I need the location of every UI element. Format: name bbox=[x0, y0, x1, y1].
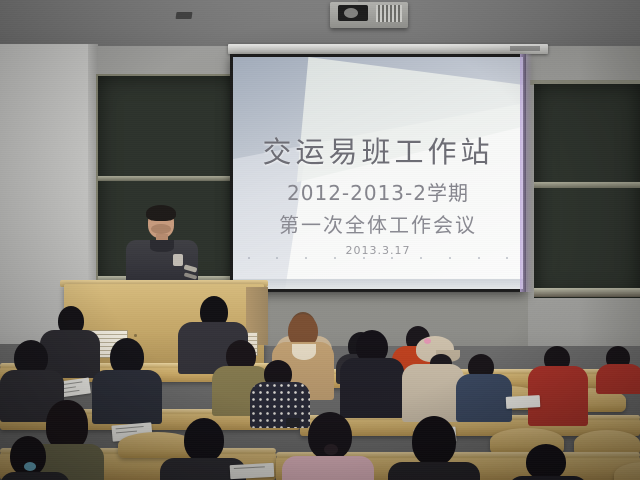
attendee-head bbox=[184, 418, 224, 462]
projection-screen-housing bbox=[228, 44, 548, 54]
attendee-hood bbox=[292, 344, 316, 360]
hair-bun bbox=[324, 444, 338, 455]
attendee-front-pink-coat bbox=[282, 412, 374, 480]
blackboard-right-tray bbox=[534, 288, 640, 297]
attendee-mid-right-red bbox=[528, 346, 588, 424]
attendee-front-dark-center bbox=[388, 416, 480, 480]
handout-paper bbox=[506, 395, 541, 409]
blackboard-right-rail bbox=[534, 182, 640, 188]
attendee-body bbox=[456, 374, 512, 422]
attendee-body bbox=[340, 358, 404, 418]
projector-lens-icon bbox=[338, 5, 368, 21]
attendee-body bbox=[596, 364, 640, 394]
attendee-body bbox=[0, 472, 70, 480]
attendee-body bbox=[282, 456, 374, 480]
attendee-back-far-edge-red bbox=[596, 346, 640, 390]
slide-subtitle-term: 2012-2013-2学期 bbox=[287, 177, 469, 206]
presentation-slide: 交运易班工作站 2012-2013-2学期 第一次全体工作会议 2013.3.1… bbox=[233, 57, 523, 289]
attendee-body bbox=[402, 364, 464, 422]
blackboard-right bbox=[534, 84, 640, 298]
ceiling-projector-icon bbox=[330, 2, 408, 28]
slide-date: 2013.3.17 bbox=[346, 244, 411, 257]
lecture-hall-photo: 交运易班工作站 2012-2013-2学期 第一次全体工作会议 2013.3.1… bbox=[0, 0, 640, 480]
projector-grille bbox=[376, 5, 402, 22]
slide-subtitle-meeting: 第一次全体工作会议 bbox=[279, 209, 477, 238]
slide-dot-row bbox=[248, 257, 509, 259]
ceiling-vent-icon bbox=[176, 12, 193, 19]
blackboard-left-rail bbox=[98, 176, 240, 181]
presenter-face-shadow bbox=[151, 224, 171, 234]
cap-decoration bbox=[424, 338, 431, 344]
attendee-mid-cap-beige bbox=[402, 336, 464, 420]
slide-footer-bar bbox=[233, 279, 523, 289]
attendee-front-far-left bbox=[0, 436, 70, 480]
presenter-jacket-badge bbox=[173, 254, 183, 266]
attendee-mid-dark-hoodie bbox=[340, 330, 404, 416]
presenter-collar bbox=[150, 240, 174, 252]
attendee-mid-plaid bbox=[456, 354, 512, 420]
attendee-front-right-black bbox=[508, 444, 588, 480]
lectern-screw bbox=[134, 334, 137, 337]
handout-paper bbox=[230, 463, 275, 479]
presenter bbox=[126, 208, 198, 290]
slide-title: 交运易班工作站 bbox=[262, 129, 493, 171]
hair-tie bbox=[24, 462, 36, 471]
attendee-head bbox=[526, 444, 566, 480]
projection-screen: 交运易班工作站 2012-2013-2学期 第一次全体工作会议 2013.3.1… bbox=[230, 54, 526, 292]
attendee-head bbox=[412, 416, 456, 466]
attendee-body bbox=[388, 462, 480, 480]
presenter-hair bbox=[146, 205, 176, 221]
screen-brand-label bbox=[510, 46, 540, 51]
attendee-body bbox=[508, 476, 588, 480]
